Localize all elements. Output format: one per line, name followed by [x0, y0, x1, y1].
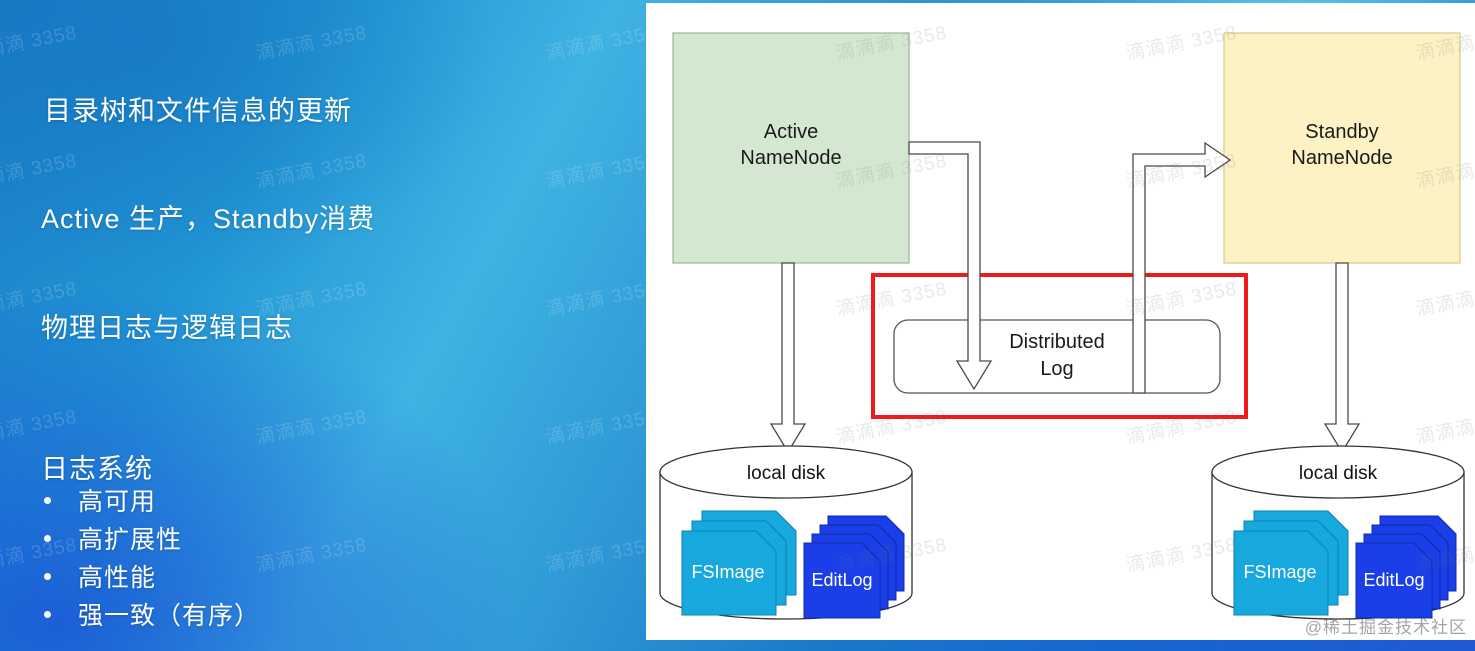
left-text-column: 目录树和文件信息的更新 Active 生产，Standby消费 物理日志与逻辑日…: [0, 0, 646, 651]
active-namenode-label-line1: Active: [764, 121, 818, 143]
standby-namenode-label-line1: Standby: [1305, 121, 1378, 143]
headline-directory-tree: 目录树和文件信息的更新: [44, 89, 352, 128]
distributed-log-label-line1: Distributed: [1009, 331, 1105, 353]
bullet-dot-icon: [44, 611, 51, 618]
bullet-label: 强一致（有序）: [78, 596, 260, 632]
local-disk-left: local disk FSImage EditLog: [660, 446, 912, 619]
headline-active-standby: Active 生产，Standby消费: [41, 197, 375, 236]
bullet-label: 高扩展性: [78, 520, 182, 556]
list-item: 高扩展性: [44, 519, 260, 557]
bullet-dot-icon: [44, 573, 51, 580]
fsimage-document-stack-left: FSImage: [682, 511, 796, 615]
headline-physical-logical-log: 物理日志与逻辑日志: [41, 306, 293, 345]
fsimage-label-right: FSImage: [1243, 562, 1316, 582]
log-system-bullet-list: 高可用 高扩展性 高性能 强一致（有序）: [44, 481, 260, 633]
list-item: 强一致（有序）: [44, 595, 260, 633]
active-namenode-label-line2: NameNode: [740, 147, 841, 169]
source-credit-watermark: @稀土掘金技术社区: [1305, 613, 1467, 638]
standby-namenode-box: Standby NameNode: [1224, 33, 1460, 263]
bullet-label: 高可用: [78, 482, 156, 518]
list-item: 高性能: [44, 557, 260, 595]
bullet-dot-icon: [44, 535, 51, 542]
editlog-label-left: EditLog: [811, 570, 872, 590]
distributed-log-box: Distributed Log: [894, 320, 1220, 393]
distributed-log-label-line2: Log: [1040, 358, 1073, 380]
architecture-diagram-panel: Active NameNode Standby NameNode Distrib…: [646, 3, 1475, 640]
fsimage-label-left: FSImage: [691, 562, 764, 582]
slide-root: 目录树和文件信息的更新 Active 生产，Standby消费 物理日志与逻辑日…: [0, 0, 1475, 651]
bullet-dot-icon: [44, 497, 51, 504]
fsimage-document-stack-right: FSImage: [1234, 511, 1348, 615]
standby-namenode-label-line2: NameNode: [1291, 147, 1392, 169]
editlog-label-right: EditLog: [1363, 570, 1424, 590]
local-disk-label-left: local disk: [747, 463, 826, 484]
bullet-label: 高性能: [78, 558, 156, 594]
active-namenode-box: Active NameNode: [673, 33, 909, 263]
arrow-active-to-local-disk: [771, 263, 805, 452]
local-disk-right: local disk FSImage EditLog: [1212, 446, 1464, 619]
arrow-standby-to-local-disk: [1325, 263, 1359, 452]
architecture-diagram-svg: Active NameNode Standby NameNode Distrib…: [646, 3, 1475, 640]
local-disk-label-right: local disk: [1299, 463, 1378, 484]
list-item: 高可用: [44, 481, 260, 519]
